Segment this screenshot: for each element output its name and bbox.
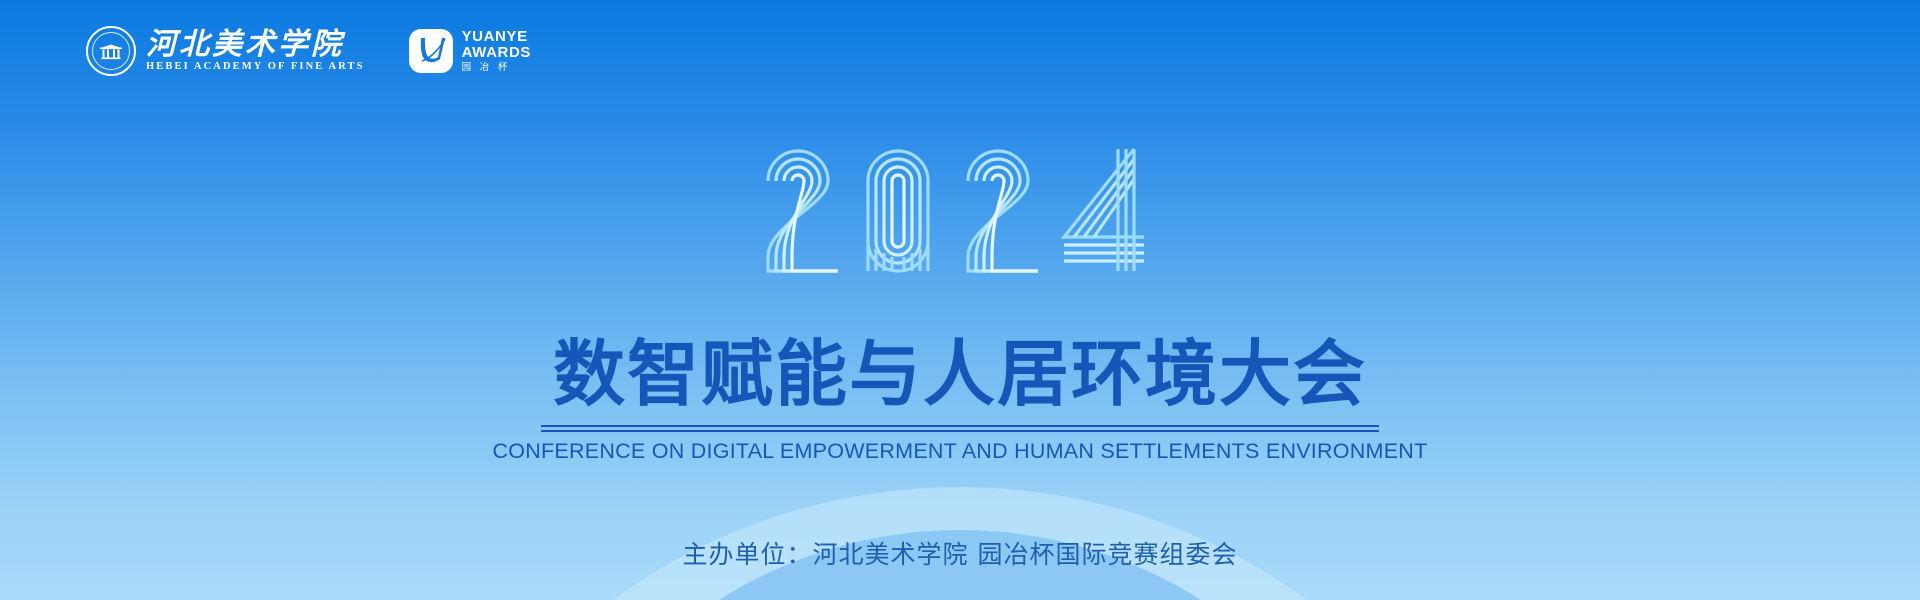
year-2024-graphic bbox=[0, 134, 1920, 294]
page-title: 数智赋能与人居环境大会 bbox=[553, 336, 1367, 414]
page-subtitle: CONFERENCE ON DIGITAL EMPOWERMENT AND HU… bbox=[493, 439, 1428, 464]
yuanye-name-line1: YUANYE bbox=[462, 29, 531, 44]
title-divider bbox=[541, 425, 1379, 432]
divider-line-top bbox=[541, 425, 1379, 427]
yuanye-name-cn: 园 冶 杯 bbox=[462, 63, 531, 73]
year-2024-svg bbox=[760, 139, 1160, 289]
yuanye-leaf-glyph bbox=[409, 29, 453, 73]
yuanye-leaf-icon bbox=[409, 29, 453, 73]
academy-seal-icon bbox=[86, 26, 136, 76]
hebei-academy-wordmark: 河北美术学院 HEBEI ACADEMY OF FINE ARTS bbox=[146, 30, 365, 73]
yuanye-wordmark: YUANYE AWARDS 园 冶 杯 bbox=[462, 29, 531, 73]
yuanye-name-line2: AWARDS bbox=[462, 45, 531, 60]
hebei-name-en: HEBEI ACADEMY OF FINE ARTS bbox=[146, 62, 365, 73]
headline-block: 数智赋能与人居环境大会 CONFERENCE ON DIGITAL EMPOWE… bbox=[0, 336, 1920, 464]
conference-banner: 河北美术学院 HEBEI ACADEMY OF FINE ARTS YUANYE… bbox=[0, 0, 1920, 600]
divider-line-bottom bbox=[541, 430, 1379, 432]
hebei-name-cn: 河北美术学院 bbox=[146, 30, 365, 60]
organizer-line: 主办单位：河北美术学院 园冶杯国际竞赛组委会 bbox=[0, 535, 1920, 571]
academy-gate-glyph bbox=[99, 44, 123, 59]
hebei-academy-logo[interactable]: 河北美术学院 HEBEI ACADEMY OF FINE ARTS bbox=[86, 26, 365, 76]
yuanye-awards-logo[interactable]: YUANYE AWARDS 园 冶 杯 bbox=[409, 29, 531, 73]
logo-row: 河北美术学院 HEBEI ACADEMY OF FINE ARTS YUANYE… bbox=[86, 26, 531, 76]
